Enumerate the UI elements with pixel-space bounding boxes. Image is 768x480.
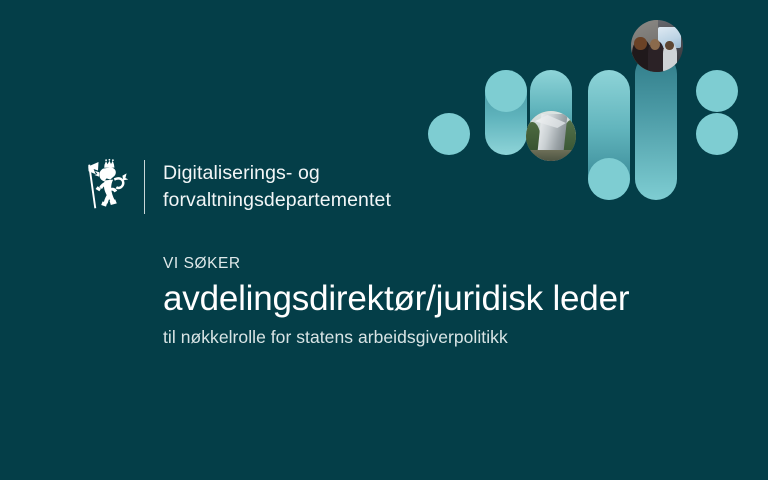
logo-divider xyxy=(144,160,145,214)
photo-building-ground xyxy=(526,150,576,161)
decor-pill-2-cap-circle xyxy=(485,70,527,112)
photo-meeting-person-1-hair xyxy=(634,37,646,51)
job-title: avdelingsdirektør/juridisk leder xyxy=(163,279,723,318)
norwegian-coat-of-arms-icon xyxy=(84,158,130,216)
decor-pill-5 xyxy=(635,53,677,200)
decor-circle-7 xyxy=(696,113,738,155)
photo-meeting-person-3-hair xyxy=(665,41,673,50)
job-subtitle: til nøkkelrolle for statens arbeidsgiver… xyxy=(163,326,723,349)
decor-circle-1 xyxy=(428,113,470,155)
decor-circle-6 xyxy=(696,70,738,112)
decor-pill-4-cap-circle xyxy=(588,158,630,200)
eyebrow-label: VI SØKER xyxy=(163,255,723,273)
department-name: Digitaliserings- og forvaltningsdepartem… xyxy=(163,160,391,214)
headline-block: VI SØKER avdelingsdirektør/juridisk lede… xyxy=(163,255,723,349)
recruitment-poster: Digitaliserings- og forvaltningsdepartem… xyxy=(0,0,768,480)
decorative-graphic xyxy=(420,0,768,215)
photo-meeting xyxy=(631,20,683,72)
department-logo-lockup: Digitaliserings- og forvaltningsdepartem… xyxy=(84,158,391,216)
photo-building xyxy=(526,111,576,161)
